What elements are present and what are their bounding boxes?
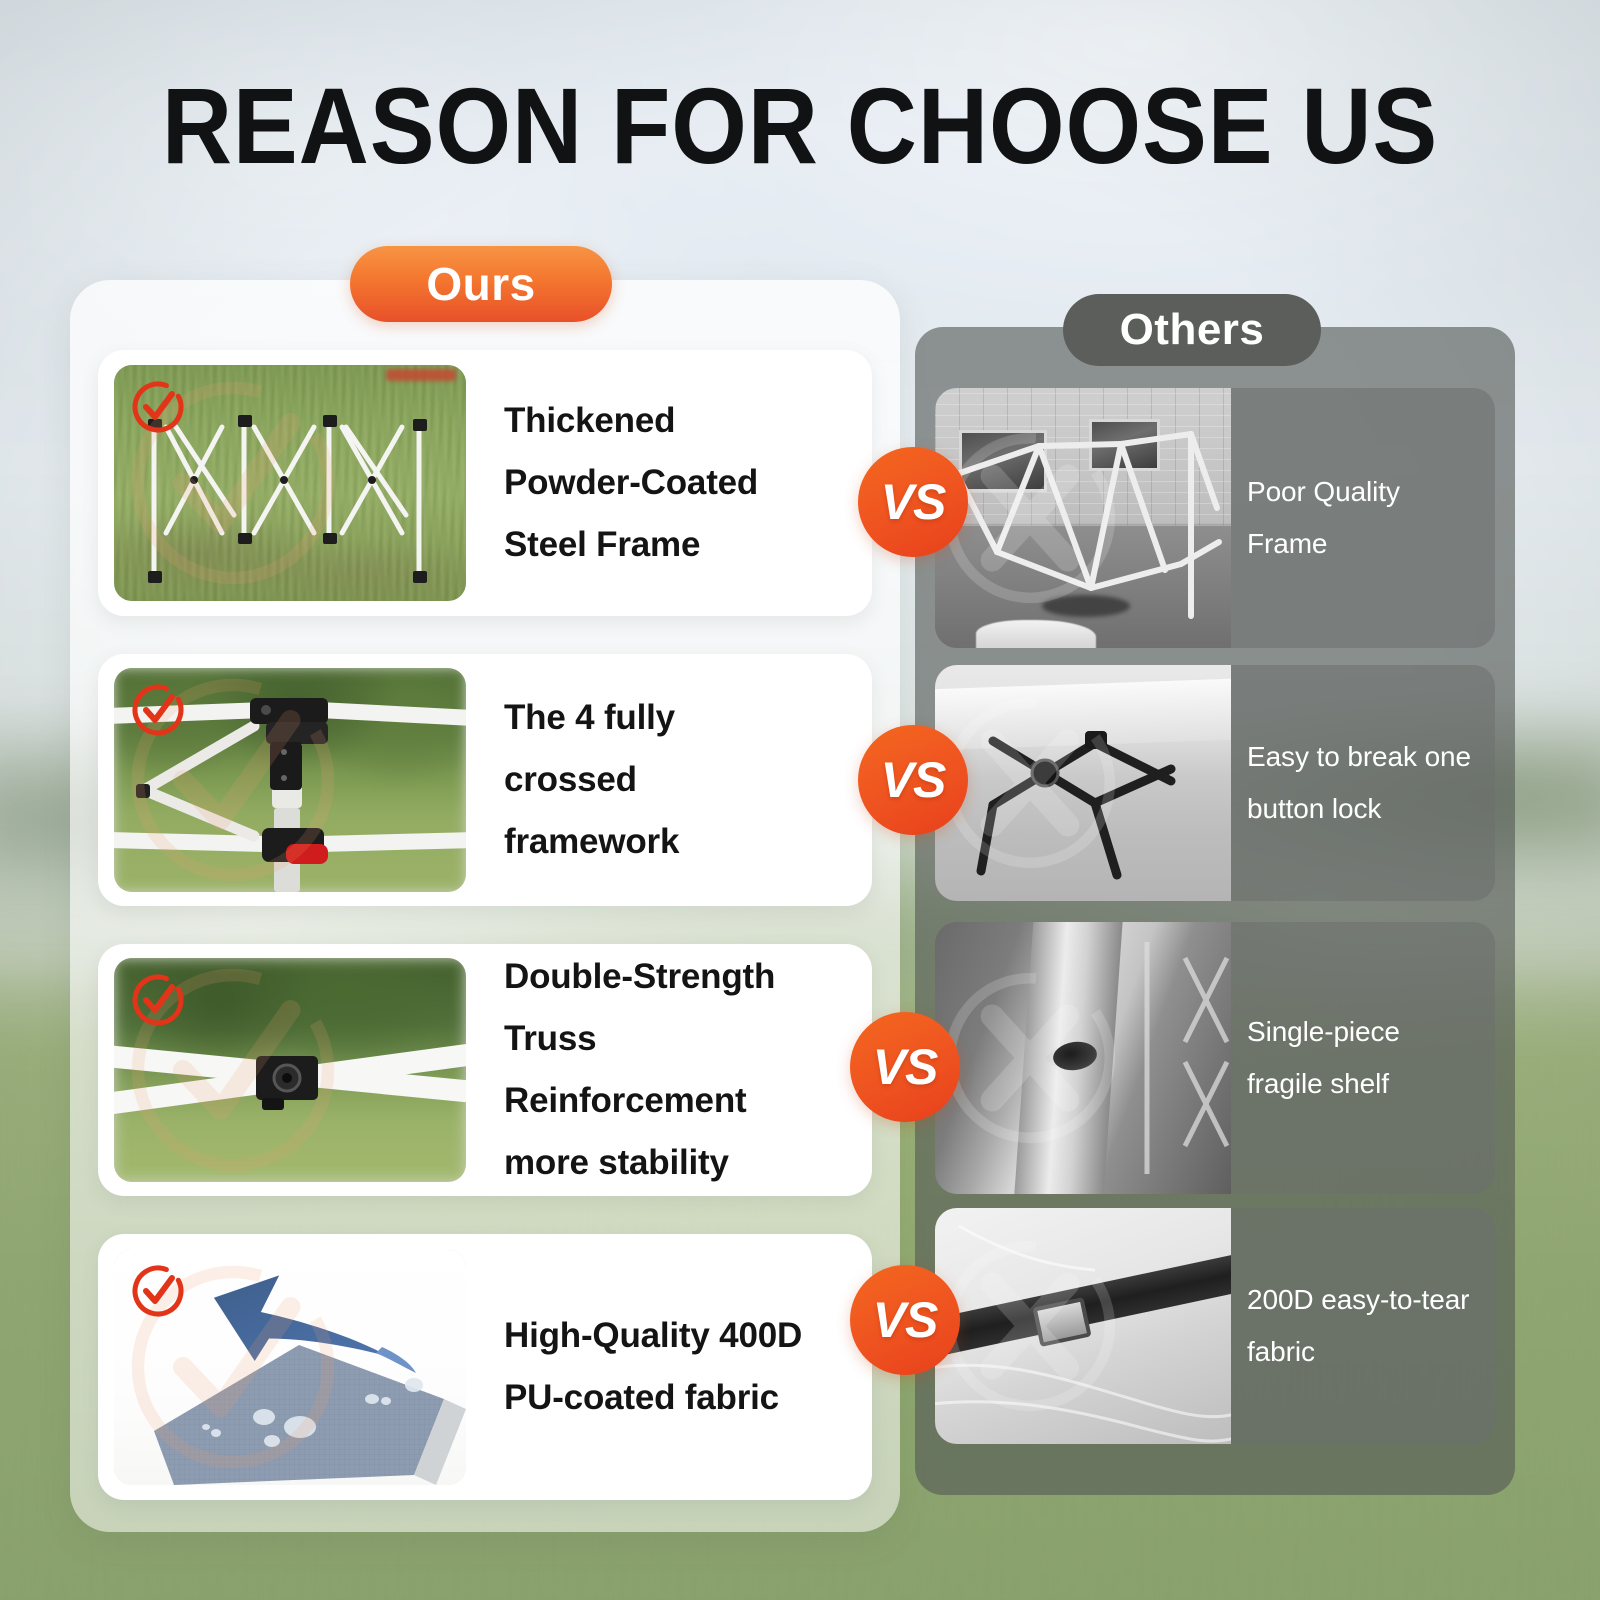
others-image-3 [935, 922, 1231, 1194]
ours-badge: Ours [350, 246, 612, 322]
ours-row-2: The 4 fully crossed framework [98, 654, 872, 906]
others-text-3: Single-piece fragile shelf [1231, 1006, 1495, 1110]
ours-row-3: Double-Strength Truss Reinforcement more… [98, 944, 872, 1196]
others-row-4: 200D easy-to-tear fabric [935, 1208, 1495, 1444]
vs-badge-1: VS [858, 447, 968, 557]
others-image-1 [935, 388, 1231, 648]
others-text-1: Poor Quality Frame [1231, 466, 1495, 570]
vs-badge-4: VS [850, 1265, 960, 1375]
others-badge: Others [1063, 294, 1321, 366]
vs-badge-3: VS [850, 1012, 960, 1122]
others-row-1: Poor Quality Frame [935, 388, 1495, 648]
ours-text-4: High-Quality 400D PU-coated fabric [466, 1305, 872, 1429]
ours-image-4 [114, 1249, 466, 1485]
others-row-3: Single-piece fragile shelf [935, 922, 1495, 1194]
red-check-circle-icon [128, 377, 188, 437]
red-check-circle-icon [128, 970, 188, 1030]
ours-text-3: Double-Strength Truss Reinforcement more… [466, 946, 872, 1194]
vs-badge-2: VS [858, 725, 968, 835]
ours-text-1: Thickened Powder-Coated Steel Frame [466, 390, 872, 576]
page-title: REASON FOR CHOOSE US [80, 70, 1520, 182]
ours-image-3 [114, 958, 466, 1182]
others-image-4 [935, 1208, 1231, 1444]
crossed-bars-with-button-lock [935, 665, 1231, 901]
ours-image-2 [114, 668, 466, 892]
ours-row-4: High-Quality 400D PU-coated fabric [98, 1234, 872, 1500]
others-text-2: Easy to break one button lock [1231, 731, 1495, 835]
ours-text-2: The 4 fully crossed framework [466, 687, 872, 873]
background-frame-bars [935, 922, 1231, 1194]
broken-frame-bars [935, 388, 1231, 648]
others-text-4: 200D easy-to-tear fabric [1231, 1274, 1495, 1378]
ours-image-1 [114, 365, 466, 601]
others-image-2 [935, 665, 1231, 901]
red-check-circle-icon [128, 680, 188, 740]
fabric-folds [935, 1208, 1231, 1444]
ours-row-1: Thickened Powder-Coated Steel Frame [98, 350, 872, 616]
red-check-circle-icon [128, 1261, 188, 1321]
others-row-2: Easy to break one button lock [935, 665, 1495, 901]
infographic-canvas: REASON FOR CHOOSE US Ours Others [0, 0, 1600, 1600]
